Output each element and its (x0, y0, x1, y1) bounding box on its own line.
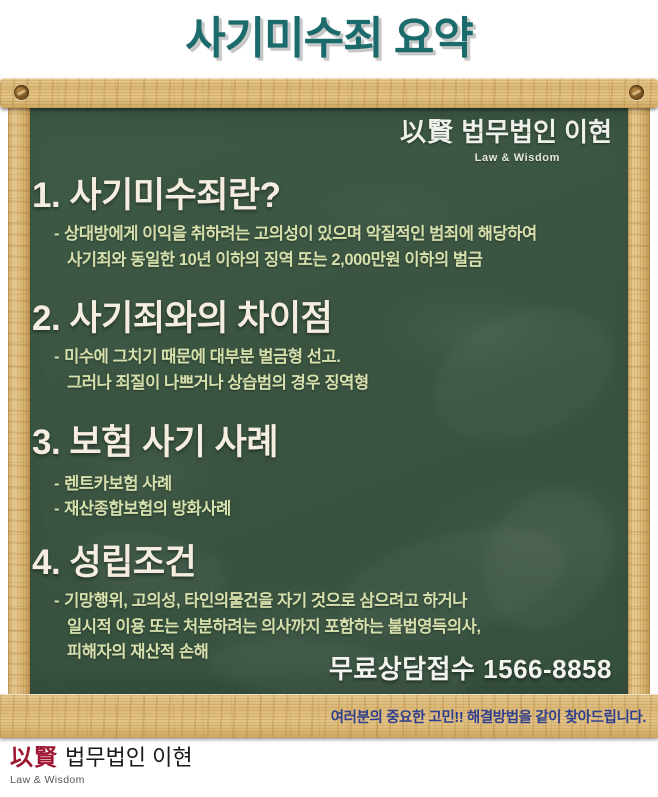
board-logo-tagline: Law & Wisdom (32, 152, 560, 164)
page-title: 사기미수죄 요약 (185, 17, 473, 61)
footer-logo-hanja: 以賢 (10, 745, 58, 771)
board-logo: 以賢 법무법인 이현 Law & Wisdom (32, 110, 626, 164)
section-1-body: -상대방에게 이익을 취하려는 고의성이 있으며 악질적인 범죄에 해당하여 사… (32, 222, 626, 273)
section-2: 2. 사기죄와의 차이점 -미수에 그치기 때문에 대부분 벌금형 선고. 그러… (32, 299, 626, 396)
board-logo-main: 以賢 법무법인 이현 (32, 118, 612, 149)
board-logo-hanja: 以賢 (400, 118, 454, 148)
wood-rail-left (8, 102, 30, 700)
body-line: -기망행위, 고의성, 타인의물건을 자기 것으로 삼으려고 하거나 (54, 589, 626, 615)
wood-rail-right (628, 102, 650, 700)
bottom-tagline: 여러분의 중요한 고민!! 해결방법을 같이 찾아드립니다. (331, 706, 658, 727)
chalkboard-frame: 以賢 법무법인 이현 Law & Wisdom 1. 사기미수죄란? -상대방에… (0, 78, 658, 738)
footer-logo: 以賢법무법인 이현 (10, 746, 658, 772)
section-1-heading: 1. 사기미수죄란? (32, 176, 626, 215)
footer: 以賢법무법인 이현 Law & Wisdom (0, 738, 658, 797)
body-line: -렌트카보험 사례 (54, 472, 626, 498)
dash-bullet-icon: - (54, 592, 59, 610)
section-2-body: -미수에 그치기 때문에 대부분 벌금형 선고. 그러나 죄질이 나쁘거나 상습… (32, 345, 626, 396)
consultation-phone[interactable]: 무료상담접수 1566-8858 (329, 649, 612, 686)
body-line-text: 기망행위, 고의성, 타인의물건을 자기 것으로 삼으려고 하거나 (64, 592, 467, 610)
dash-bullet-icon: - (54, 348, 59, 366)
board-logo-name: 법무법인 이현 (461, 117, 612, 147)
section-1: 1. 사기미수죄란? -상대방에게 이익을 취하려는 고의성이 있으며 악질적인… (32, 176, 626, 273)
screw-icon (629, 85, 644, 100)
board-content: 以賢 법무법인 이현 Law & Wisdom 1. 사기미수죄란? -상대방에… (32, 110, 626, 692)
body-line-text: 상대방에게 이익을 취하려는 고의성이 있으며 악질적인 범죄에 해당하여 (64, 225, 537, 243)
body-line: -미수에 그치기 때문에 대부분 벌금형 선고. (54, 345, 626, 371)
body-line: 일시적 이용 또는 처분하려는 의사까지 포함하는 불법영득의사, (54, 615, 626, 641)
body-line: -재산종합보험의 방화사례 (54, 497, 626, 523)
dash-bullet-icon: - (54, 225, 59, 243)
section-4-heading: 4. 성립조건 (32, 543, 626, 582)
body-line-text: 재산종합보험의 방화사례 (64, 500, 231, 518)
body-line-text: 미수에 그치기 때문에 대부분 벌금형 선고. (64, 348, 340, 366)
body-line: 사기죄와 동일한 10년 이하의 징역 또는 2,000만원 이하의 벌금 (54, 248, 626, 274)
footer-logo-name: 법무법인 이현 (65, 745, 193, 770)
section-3-heading: 3. 보험 사기 사례 (32, 423, 626, 462)
section-4: 4. 성립조건 -기망행위, 고의성, 타인의물건을 자기 것으로 삼으려고 하… (32, 543, 626, 666)
dash-bullet-icon: - (54, 500, 59, 518)
body-line: -상대방에게 이익을 취하려는 고의성이 있으며 악질적인 범죄에 해당하여 (54, 222, 626, 248)
page-title-bar: 사기미수죄 요약 (0, 0, 658, 78)
footer-logo-tagline: Law & Wisdom (10, 774, 658, 786)
dash-bullet-icon: - (54, 475, 59, 493)
section-3: 3. 보험 사기 사례 -렌트카보험 사례 -재산종합보험의 방화사례 (32, 423, 626, 523)
wood-rail-bottom: 여러분의 중요한 고민!! 해결방법을 같이 찾아드립니다. (0, 694, 658, 738)
screw-icon (14, 85, 29, 100)
wood-rail-top (0, 78, 658, 108)
body-line-text: 렌트카보험 사례 (64, 475, 172, 493)
section-2-heading: 2. 사기죄와의 차이점 (32, 299, 626, 338)
body-line: 그러나 죄질이 나쁘거나 상습범의 경우 징역형 (54, 371, 626, 397)
section-3-body: -렌트카보험 사례 -재산종합보험의 방화사례 (32, 472, 626, 523)
